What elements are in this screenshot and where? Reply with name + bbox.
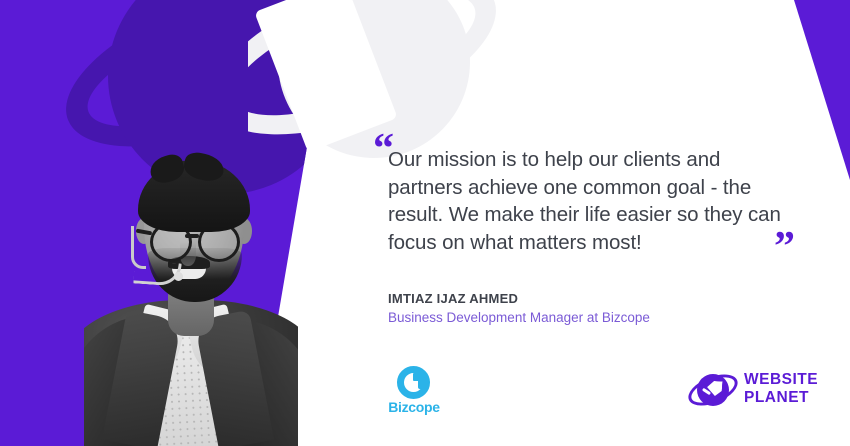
quote-close-mark-icon: ” <box>774 226 794 268</box>
author-name: IMTIAZ IJAZ AHMED <box>388 291 518 306</box>
portrait-image <box>84 150 298 446</box>
portrait-eyeglass-bridge <box>185 234 199 238</box>
website-planet-line2: PLANET <box>744 389 818 407</box>
website-planet-wordmark: WEBSITE PLANET <box>744 371 818 407</box>
website-planet-icon <box>688 370 738 410</box>
testimonial-card: “ Our mission is to help our clients and… <box>0 0 850 446</box>
bizcope-wordmark: Bizcope <box>388 399 440 415</box>
quote-text: Our mission is to help our clients and p… <box>388 146 788 256</box>
website-planet-logo[interactable]: WEBSITE PLANET <box>688 368 808 412</box>
bizcope-stem-icon <box>418 377 426 389</box>
speaker-portrait <box>84 150 298 446</box>
author-role: Business Development Manager at Bizcope <box>388 310 650 325</box>
website-planet-line1: WEBSITE <box>744 371 818 389</box>
portrait-headset-mic-icon <box>174 272 183 281</box>
bizcope-logo[interactable]: Bizcope <box>388 366 440 414</box>
corner-accent-wedge <box>786 0 850 180</box>
